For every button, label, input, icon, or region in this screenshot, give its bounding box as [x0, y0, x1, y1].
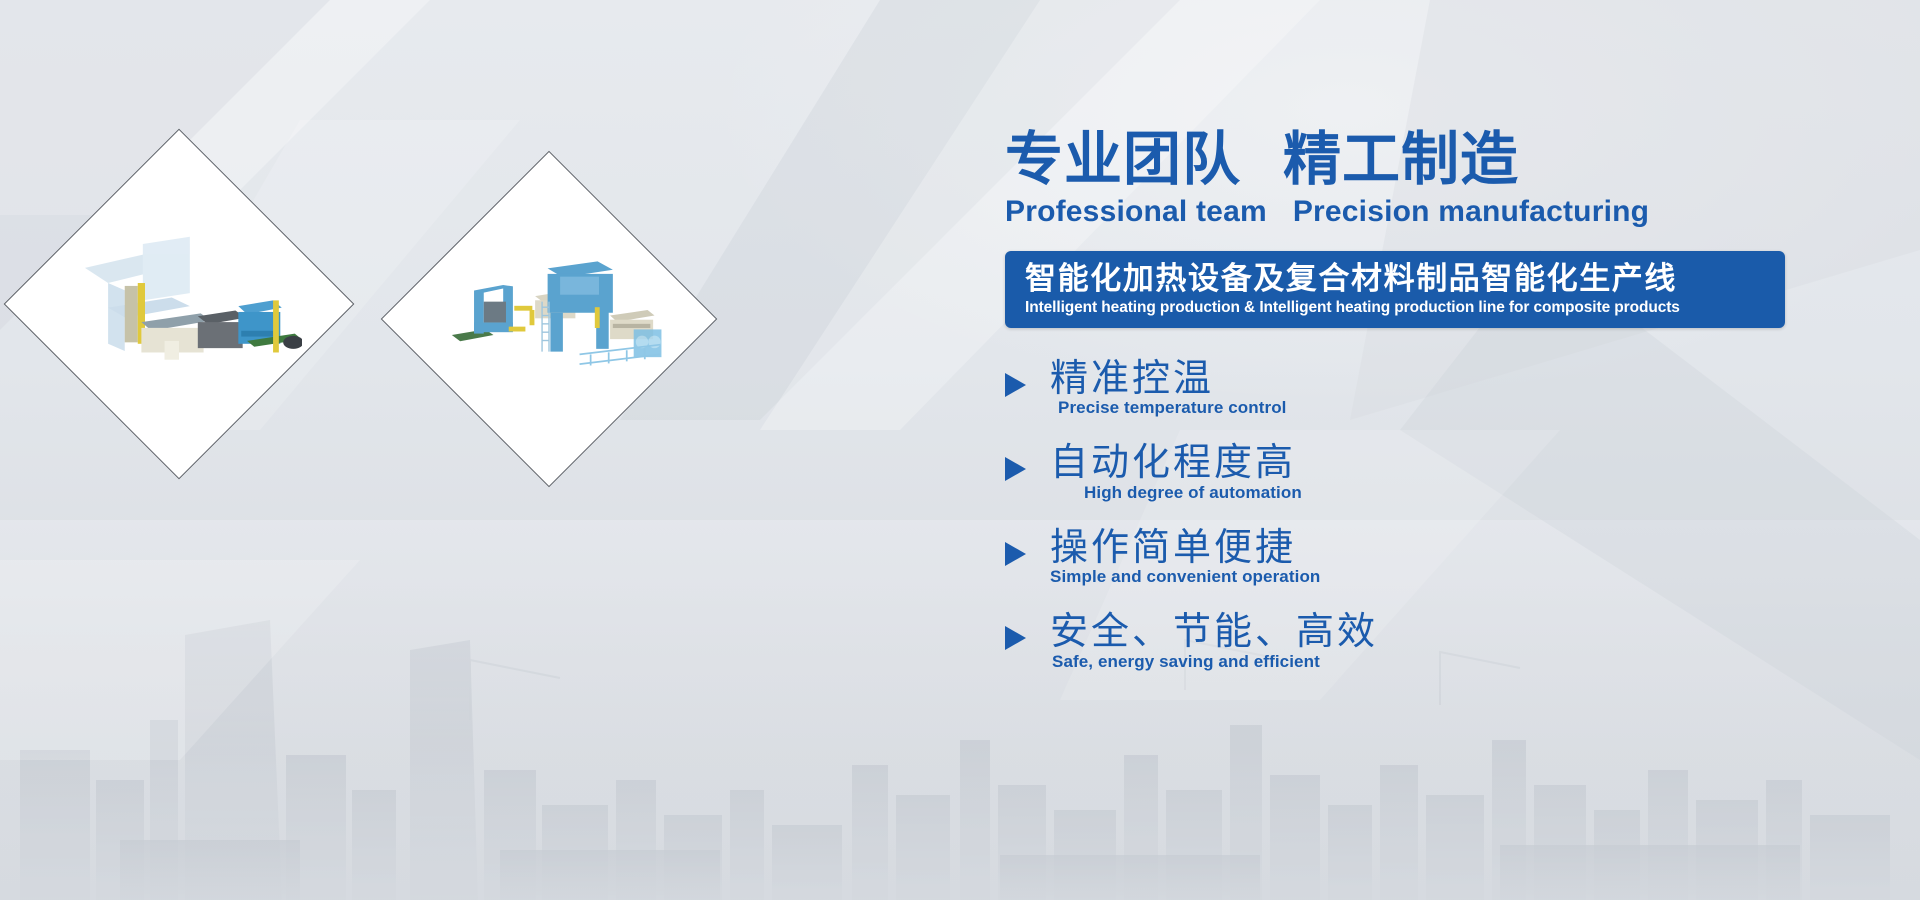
product-title-english: Intelligent heating production & Intelli… — [1025, 299, 1769, 317]
headline-cn-part2: 精工制造 — [1283, 130, 1519, 191]
feature-3-label-en: Simple and convenient operation — [1050, 567, 1320, 587]
feature-item-4: 安全、节能、高效 Safe, energy saving and efficie… — [1005, 611, 1805, 672]
feature-item-2: 自动化程度高 High degree of automation — [1005, 442, 1805, 503]
headline-en-part2: Precision manufacturing — [1293, 195, 1649, 229]
headline-en-part1: Professional team — [1005, 195, 1267, 229]
feature-list: 精准控温 Precise temperature control 自动化程度高 … — [1005, 358, 1805, 672]
triangle-right-icon — [1005, 542, 1026, 566]
triangle-right-icon — [1005, 373, 1026, 397]
triangle-right-icon — [1005, 457, 1026, 481]
product-title-bar: 智能化加热设备及复合材料制品智能化生产线 Intelligent heating… — [1005, 251, 1785, 328]
feature-2-label-cn: 自动化程度高 — [1050, 442, 1302, 485]
feature-4-label-cn: 安全、节能、高效 — [1050, 611, 1378, 654]
promo-banner: 专业团队 精工制造 Professional team Precision ma… — [0, 0, 1920, 900]
feature-3-label-cn: 操作简单便捷 — [1050, 527, 1320, 570]
production-line-render-1 — [56, 181, 302, 427]
feature-item-1: 精准控温 Precise temperature control — [1005, 358, 1805, 419]
feature-1-label-cn: 精准控温 — [1050, 358, 1287, 401]
feature-4-label-en: Safe, energy saving and efficient — [1050, 652, 1378, 672]
headline-cn-part1: 专业团队 — [1005, 130, 1241, 191]
product-title-chinese: 智能化加热设备及复合材料制品智能化生产线 — [1025, 261, 1769, 297]
triangle-right-icon — [1005, 626, 1026, 650]
headline-english: Professional team Precision manufacturin… — [1005, 195, 1805, 229]
feature-item-3: 操作简单便捷 Simple and convenient operation — [1005, 527, 1805, 588]
feature-1-label-en: Precise temperature control — [1050, 398, 1287, 418]
production-line-render-2 — [431, 201, 667, 437]
feature-2-label-en: High degree of automation — [1050, 483, 1302, 503]
headline-chinese: 专业团队 精工制造 — [1005, 130, 1805, 191]
banner-content: 专业团队 精工制造 Professional team Precision ma… — [1005, 130, 1805, 696]
